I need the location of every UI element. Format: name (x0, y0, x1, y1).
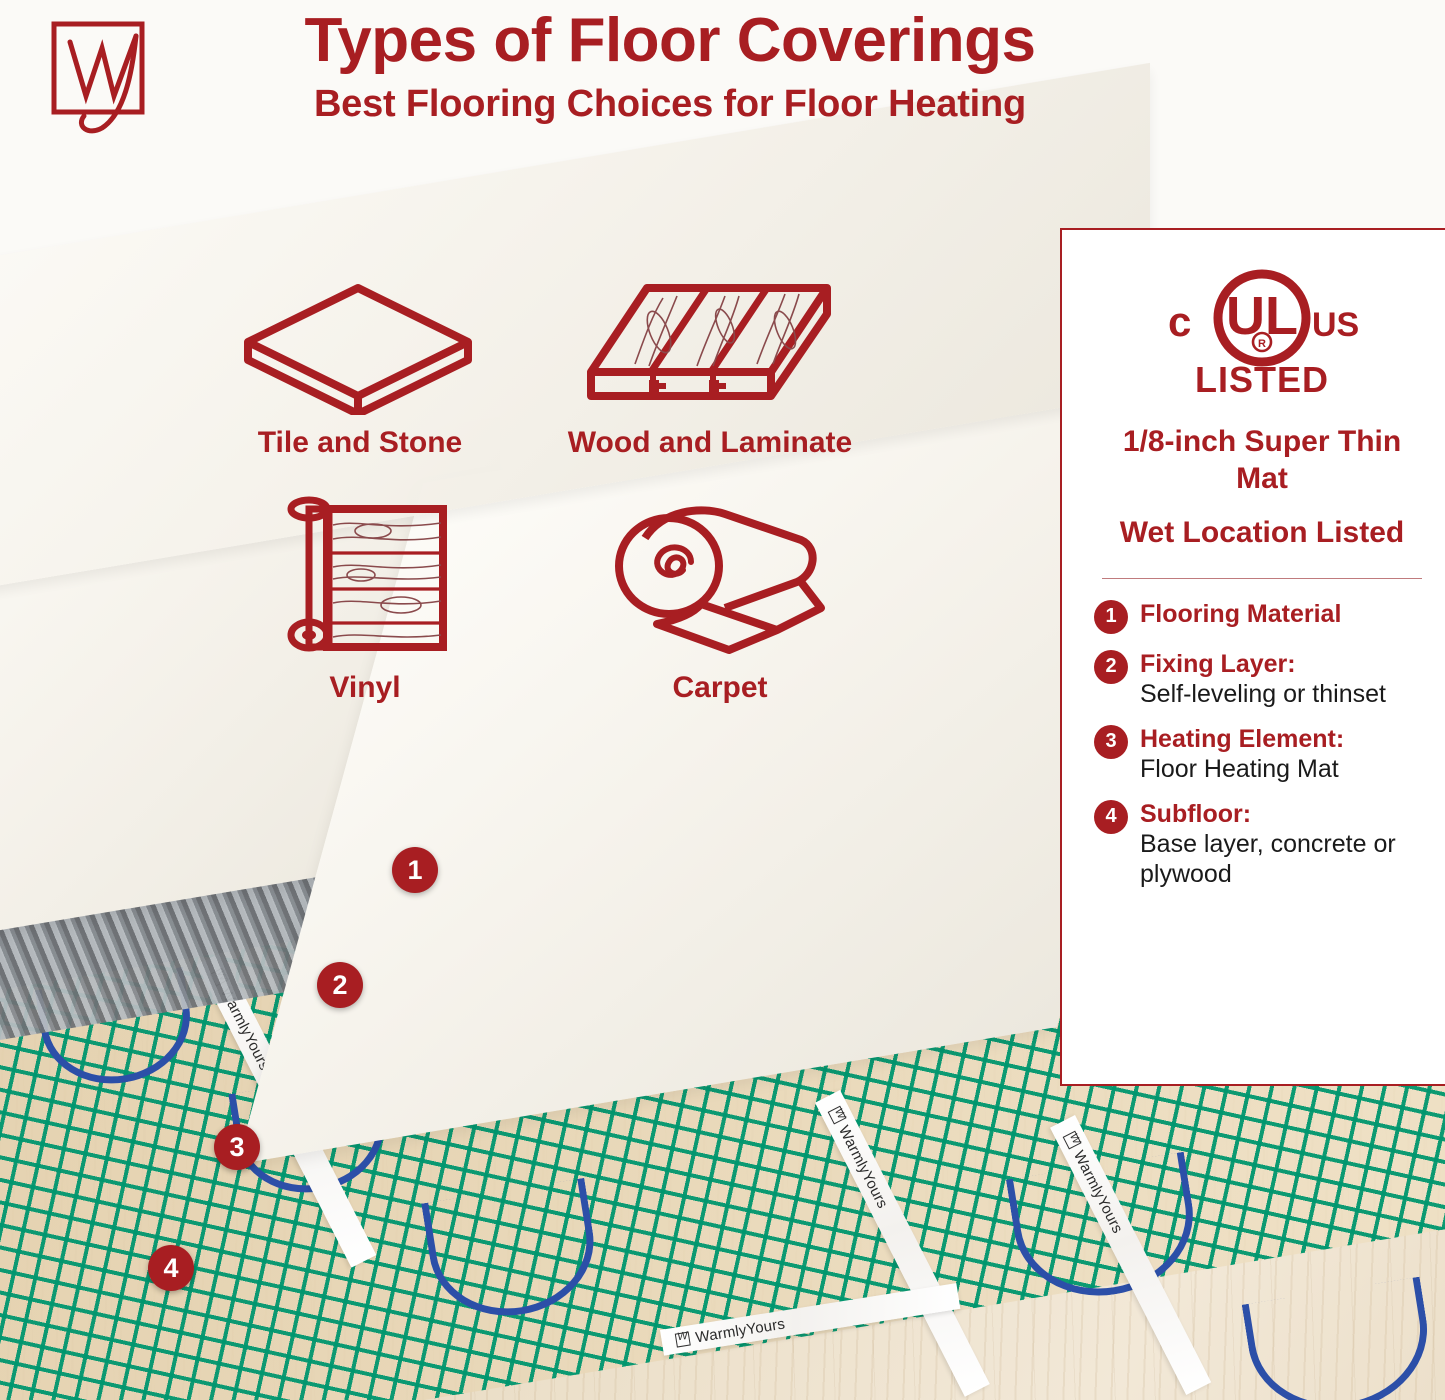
legend-body: Self-leveling or thinset (1140, 679, 1386, 709)
legend-heading: Heating Element: (1140, 725, 1344, 753)
wy-logo-mini-icon (828, 1106, 847, 1125)
photo-callout-2: 2 (317, 962, 363, 1008)
legend-number-badge: 2 (1094, 650, 1128, 684)
carpet-roll-icon (605, 500, 835, 660)
floor-type-label: Tile and Stone (210, 426, 510, 460)
cul-us-listed-icon: c UL R US LISTED (1162, 266, 1362, 398)
floor-type-wood-and-laminate[interactable]: Wood and Laminate (540, 280, 880, 460)
photo-callout-4: 4 (148, 1245, 194, 1291)
legend-number-badge: 3 (1094, 725, 1128, 759)
photo-callout-3: 3 (214, 1124, 260, 1170)
floor-type-label: Carpet (560, 671, 880, 705)
page-header: Types of Floor Coverings Best Flooring C… (0, 0, 1445, 200)
floor-type-label: Vinyl (225, 671, 505, 705)
legend-text-block: Fixing Layer: Self-leveling or thinset (1140, 649, 1386, 709)
floor-type-vinyl[interactable]: Vinyl (225, 495, 505, 705)
floor-type-tile-and-stone[interactable]: Tile and Stone (210, 280, 510, 460)
ul-mark-registered: R (1258, 338, 1266, 350)
legend-body: Floor Heating Mat (1140, 754, 1344, 784)
photo-callout-1: 1 (392, 847, 438, 893)
product-info-panel: c UL R US LISTED 1/8-inch Super Thin Mat… (1060, 228, 1445, 1086)
warmlyyours-logo-icon (40, 14, 160, 139)
floor-type-carpet[interactable]: Carpet (560, 500, 880, 705)
ul-listed-badge: c UL R US LISTED (1094, 266, 1430, 398)
wy-logo-mini-icon (1063, 1131, 1082, 1150)
page-subtitle: Best Flooring Choices for Floor Heating (190, 83, 1150, 126)
legend-heading: Flooring Material (1140, 600, 1341, 628)
ul-mark-listed: LISTED (1195, 359, 1329, 398)
legend-text-block: Heating Element: Floor Heating Mat (1140, 724, 1344, 784)
legend-text-block: Subfloor: Base layer, concrete or plywoo… (1140, 799, 1430, 889)
ul-mark-ul: UL (1226, 286, 1298, 346)
panel-divider (1102, 578, 1422, 579)
legend-item-2: 2 Fixing Layer: Self-leveling or thinset (1094, 649, 1430, 709)
floor-type-label: Wood and Laminate (540, 426, 880, 460)
legend-item-3: 3 Heating Element: Floor Heating Mat (1094, 724, 1430, 784)
legend-body: Base layer, concrete or plywood (1140, 829, 1430, 889)
legend-heading: Subfloor: (1140, 800, 1251, 828)
ul-mark-us: US (1312, 306, 1359, 344)
wy-logo-mini-icon (675, 1332, 691, 1348)
legend-item-1: 1 Flooring Material (1094, 599, 1430, 634)
title-block: Types of Floor Coverings Best Flooring C… (190, 8, 1150, 126)
legend-text-block: Flooring Material (1140, 599, 1341, 629)
tile-slab-icon (240, 280, 480, 415)
page-title: Types of Floor Coverings (190, 8, 1150, 73)
legend-heading: Fixing Layer: (1140, 650, 1296, 678)
legend-number-badge: 4 (1094, 800, 1128, 834)
legend-number-badge: 1 (1094, 600, 1128, 634)
wood-planks-icon (585, 280, 835, 415)
panel-tagline-wet-location: Wet Location Listed (1094, 515, 1430, 552)
legend-item-4: 4 Subfloor: Base layer, concrete or plyw… (1094, 799, 1430, 889)
vinyl-roll-icon (265, 495, 465, 660)
panel-tagline-thin-mat: 1/8-inch Super Thin Mat (1094, 424, 1430, 497)
ul-mark-c: c (1168, 298, 1191, 345)
